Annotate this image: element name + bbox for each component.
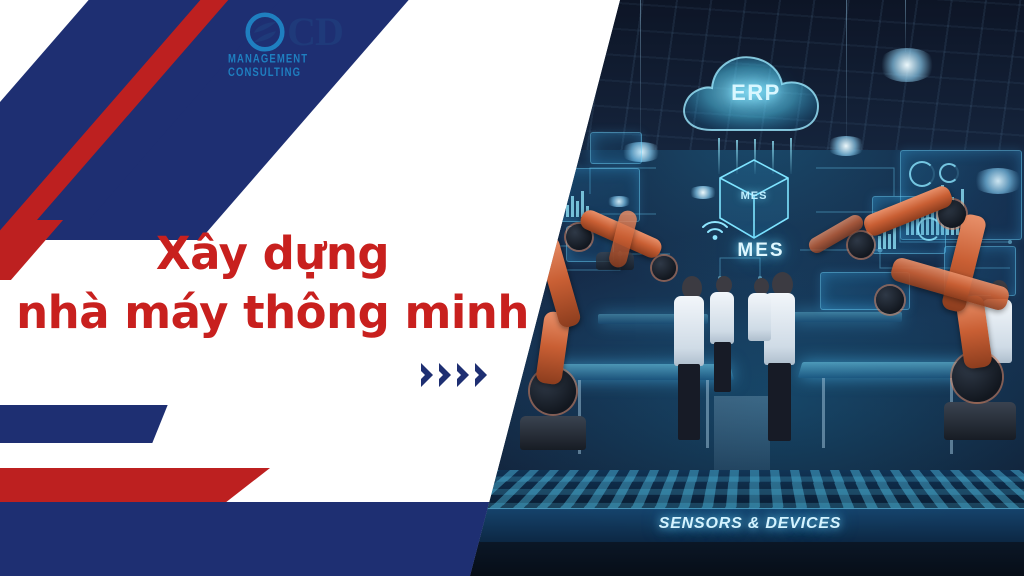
- hud-gauge: [917, 217, 941, 241]
- worker-legs: [768, 363, 791, 441]
- bench-leg: [706, 380, 709, 448]
- worker-labcoat: [748, 293, 771, 341]
- worker-labcoat: [674, 296, 704, 366]
- worker-legs: [678, 364, 700, 440]
- robot-base: [520, 416, 586, 450]
- headline-line-2: nhà máy thông minh: [0, 283, 545, 342]
- ceiling-lamp: [878, 48, 936, 82]
- photo-bottom-shadow: [470, 542, 1024, 576]
- hud-gauge: [939, 163, 959, 183]
- chevron-right-icon: [456, 362, 473, 388]
- sensors-devices-label: SENSORS & DEVICES: [470, 515, 1024, 533]
- bench-leg: [822, 378, 825, 448]
- logo-row: CD: [245, 12, 343, 52]
- chevron-right-icon: [420, 362, 437, 388]
- mes-cube-label: MES: [706, 190, 802, 202]
- lamp-stem: [846, 0, 847, 140]
- worker-legs: [714, 342, 731, 392]
- workbench: [554, 364, 735, 380]
- banner-canvas: ERP: [0, 0, 1024, 576]
- erp-cloud-icon: ERP: [676, 42, 836, 146]
- decor-bottom-navy-base: [0, 502, 530, 576]
- decor-bottom-red-bar: [0, 468, 270, 503]
- o-swirl-icon: [245, 12, 285, 52]
- mes-label: MES: [706, 240, 816, 262]
- logo-letters: CD: [287, 12, 343, 52]
- chevron-right-icon: [438, 362, 455, 388]
- robot-joint: [876, 286, 904, 314]
- robot-joint: [848, 232, 874, 258]
- worker-labcoat: [710, 292, 734, 344]
- sensor-grid: [418, 470, 1024, 510]
- lamp-stem: [905, 0, 906, 52]
- robot-base: [944, 402, 1016, 440]
- chevron-group: [420, 362, 491, 388]
- logo-tagline: MANAGEMENT CONSULTING: [228, 52, 360, 80]
- erp-label: ERP: [676, 80, 836, 106]
- chevron-right-icon: [474, 362, 491, 388]
- decor-bottom-navy-bar: [0, 405, 168, 443]
- headline: Xây dựng nhà máy thông minh: [0, 224, 545, 342]
- ocd-logo[interactable]: CD MANAGEMENT CONSULTING: [228, 12, 360, 77]
- hud-panel: [590, 132, 642, 164]
- robot-joint: [652, 256, 676, 280]
- headline-line-1: Xây dựng: [0, 224, 545, 283]
- wifi-icon: [700, 218, 730, 242]
- lamp-stem: [640, 0, 641, 145]
